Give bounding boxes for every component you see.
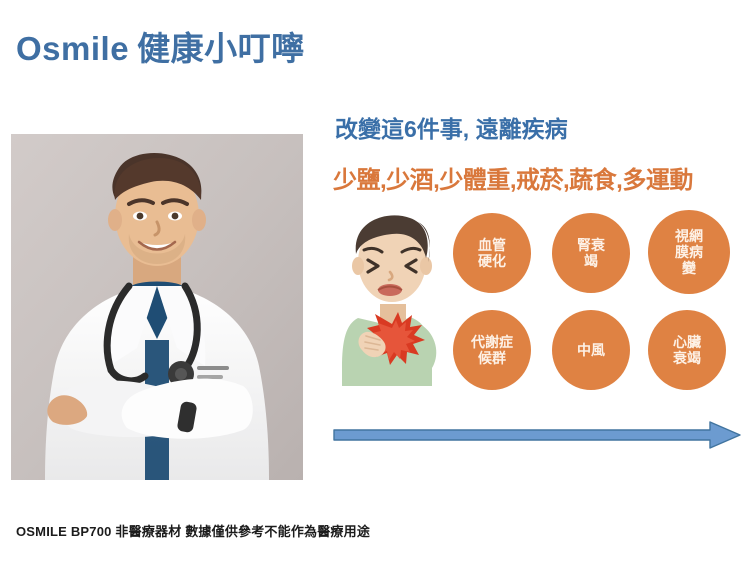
brand-name: Osmile [16, 30, 129, 67]
disease-bubble-stroke[interactable]: 中風 [552, 310, 630, 390]
bubble-label: 腎衰 竭 [577, 237, 605, 269]
bubble-label: 代謝症 候群 [471, 334, 513, 366]
disease-bubble-kidney-failure[interactable]: 腎衰 竭 [552, 213, 630, 293]
page-title: Osmile健康小叮嚀 [16, 22, 305, 70]
chest-pain-man-graphic [336, 200, 452, 392]
disease-bubble-vascular-sclerosis[interactable]: 血管 硬化 [453, 213, 531, 293]
headline-primary: 改變這6件事, 遠離疾病 [335, 110, 568, 144]
disease-bubble-retinopathy[interactable]: 視網 膜病 變 [648, 210, 730, 294]
headline-secondary: 少鹽,少酒,少體重,戒菸,蔬食,多運動 [333, 160, 693, 195]
doctor-portrait-graphic [11, 134, 303, 480]
bubble-label: 視網 膜病 變 [675, 228, 703, 276]
rightward-progress-arrow [332, 420, 744, 450]
doctor-portrait-photo [11, 134, 303, 480]
bubble-label: 中風 [577, 342, 605, 358]
chest-pain-man-illustration [336, 200, 452, 392]
disease-bubble-metabolic-syndrome[interactable]: 代謝症 候群 [453, 310, 531, 390]
page-title-chinese: 健康小叮嚀 [137, 30, 305, 67]
footer-disclaimer: OSMILE BP700 非醫療器材 數據僅供參考不能作為醫療用途 [16, 521, 370, 540]
bubble-label: 心臟 衰竭 [673, 334, 701, 366]
disease-bubble-heart-failure[interactable]: 心臟 衰竭 [648, 310, 726, 390]
bubble-label: 血管 硬化 [478, 237, 506, 269]
arrow-right-icon [332, 420, 744, 450]
